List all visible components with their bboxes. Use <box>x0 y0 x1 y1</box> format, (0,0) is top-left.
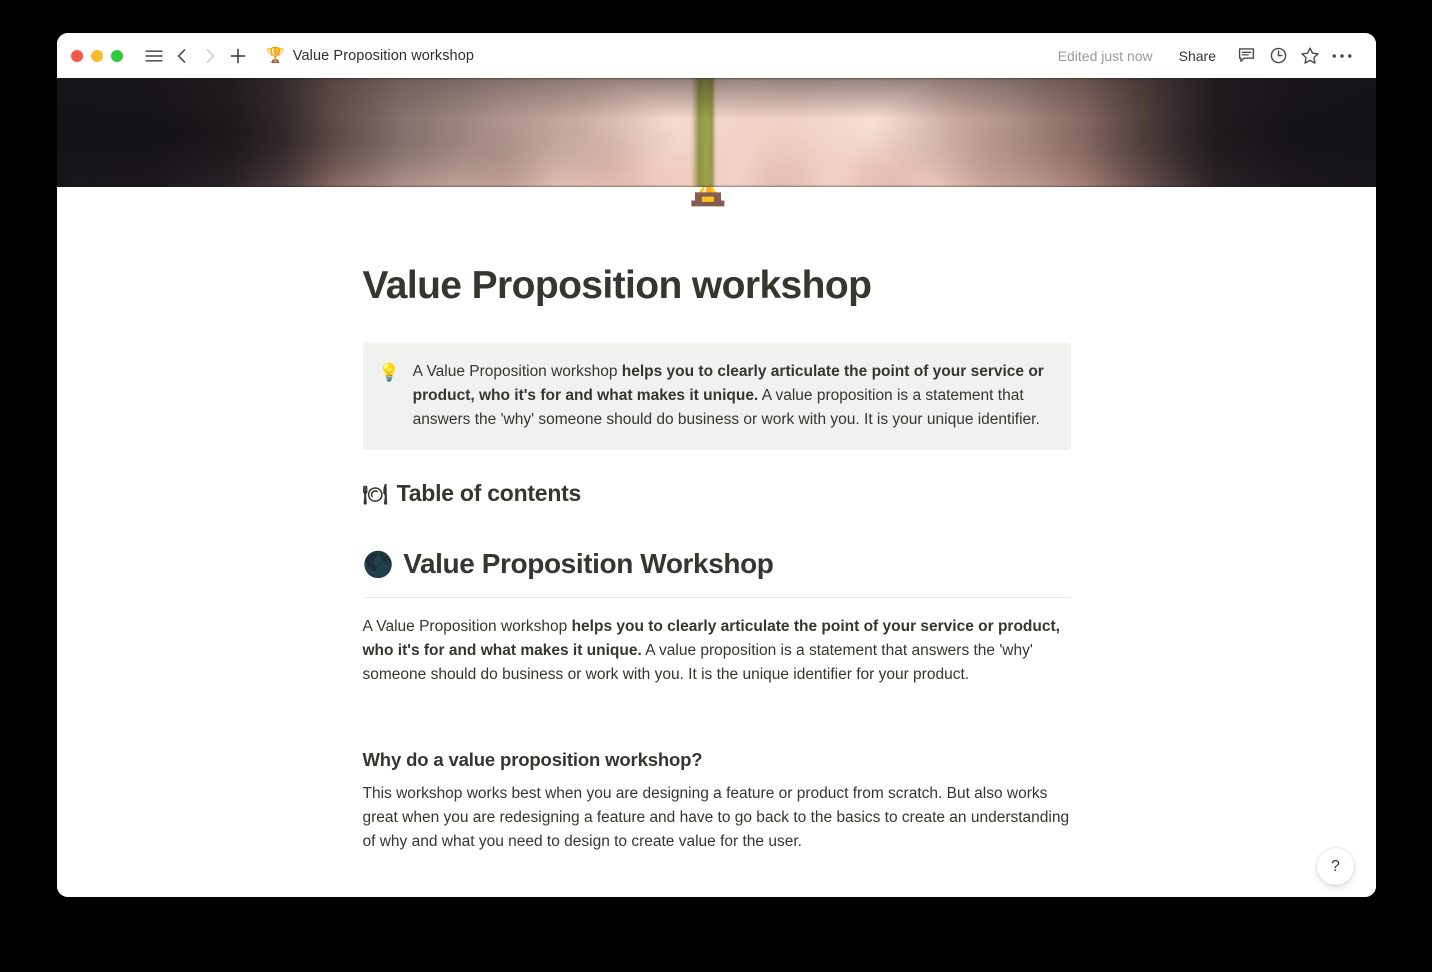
heading-table-of-contents[interactable]: 🍽 Table of contents <box>363 480 1071 507</box>
document-tab[interactable]: 🏆 Value Proposition workshop <box>266 48 474 64</box>
heading-value-proposition-workshop-label: Value Proposition Workshop <box>403 548 773 580</box>
subsection-paragraph[interactable]: This workshop works best when you are de… <box>363 782 1071 854</box>
share-button[interactable]: Share <box>1171 44 1224 68</box>
star-icon[interactable] <box>1294 40 1326 72</box>
document-tab-title: Value Proposition workshop <box>293 48 474 64</box>
cover-vignette <box>57 78 1376 187</box>
heading-divider <box>363 597 1071 598</box>
window-close-button[interactable] <box>71 50 83 62</box>
page-content: 🏆 Value Proposition workshop 💡 A Value P… <box>363 187 1071 854</box>
page-scroll-area[interactable]: 🏆 Value Proposition workshop 💡 A Value P… <box>57 187 1376 897</box>
intro-paragraph-part-1: A Value Proposition workshop <box>363 618 572 635</box>
globe-icon: 🌑 <box>363 551 394 580</box>
app-window: 🏆 Value Proposition workshop Edited just… <box>57 33 1376 897</box>
trophy-icon: 🏆 <box>266 48 285 63</box>
window-maximize-button[interactable] <box>111 50 123 62</box>
page-icon-trophy-icon[interactable]: 🏆 <box>670 187 747 205</box>
plus-icon[interactable] <box>224 42 252 70</box>
chevron-right-icon[interactable] <box>196 42 224 70</box>
intro-paragraph[interactable]: A Value Proposition workshop helps you t… <box>363 615 1071 687</box>
heading-value-proposition-workshop[interactable]: 🌑 Value Proposition Workshop <box>363 548 1071 580</box>
titlebar-actions: Edited just now Share <box>1058 40 1358 72</box>
hamburger-menu-icon[interactable] <box>140 42 168 70</box>
traffic-lights <box>71 50 123 62</box>
help-button[interactable]: ? <box>1317 848 1354 885</box>
section-value-proposition-workshop: 🌑 Value Proposition Workshop <box>363 548 1071 598</box>
window-minimize-button[interactable] <box>91 50 103 62</box>
title-bar: 🏆 Value Proposition workshop Edited just… <box>57 33 1376 78</box>
page-cover-image[interactable] <box>57 78 1376 187</box>
more-options-icon[interactable] <box>1326 40 1358 72</box>
callout-text-part-1: A Value Proposition workshop <box>413 363 622 380</box>
heading-why-do-a-value-proposition-workshop[interactable]: Why do a value proposition workshop? <box>363 749 1071 771</box>
clock-history-icon[interactable] <box>1262 40 1294 72</box>
edited-status: Edited just now <box>1058 48 1153 64</box>
chevron-left-icon[interactable] <box>168 42 196 70</box>
navigation-group <box>140 42 252 70</box>
comment-icon[interactable] <box>1230 40 1262 72</box>
callout-block[interactable]: 💡 A Value Proposition workshop helps you… <box>363 343 1071 450</box>
heading-table-of-contents-label: Table of contents <box>397 480 581 507</box>
lightbulb-icon: 💡 <box>379 360 400 432</box>
callout-text: A Value Proposition workshop helps you t… <box>413 360 1053 432</box>
plate-with-cutlery-icon: 🍽 <box>363 482 388 507</box>
